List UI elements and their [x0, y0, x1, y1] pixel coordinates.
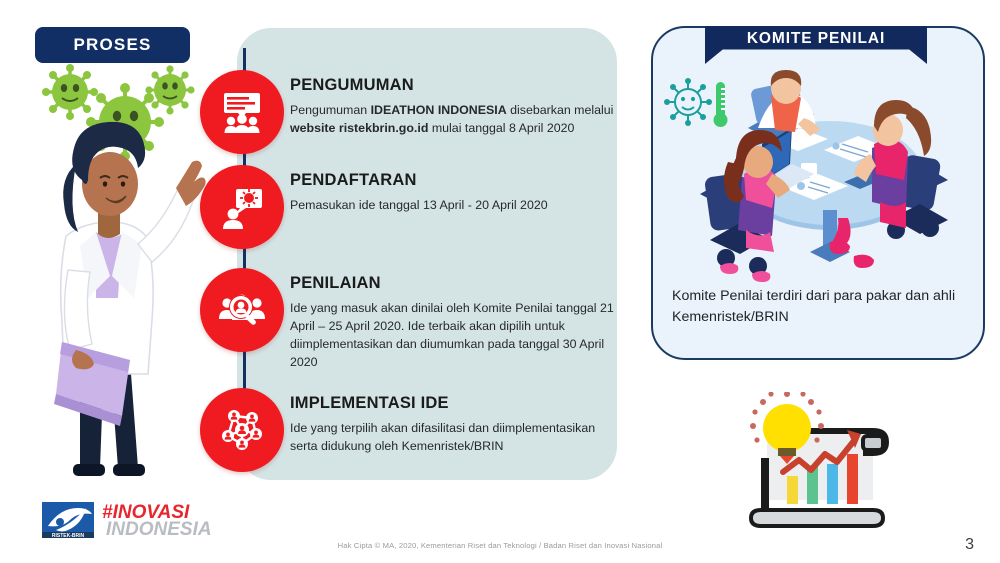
copyright-footer: Hak Cipta © MA, 2020, Kementerian Riset … [0, 541, 1000, 550]
process-step-body: IMPLEMENTASI IDE Ide yang terpilih akan … [290, 394, 615, 456]
step-title: IMPLEMENTASI IDE [290, 394, 615, 413]
komite-penilai-caption: Komite Penilai terdiri dari para pakar d… [672, 286, 972, 327]
proses-header-label: PROSES [73, 35, 151, 55]
komite-penilai-label: KOMITE PENILAI [747, 30, 885, 48]
person-idea-bubble-icon [200, 165, 284, 249]
step-title: PENILAIAN [290, 274, 615, 293]
lightbulb-bar-chart-icon [735, 392, 905, 537]
step-title: PENGUMUMAN [290, 76, 615, 95]
step-description: Pengumuman IDEATHON INDONESIA disebarkan… [290, 102, 615, 138]
step-description: Ide yang terpilih akan difasilitasi dan … [290, 420, 615, 456]
step-description: Pemasukan ide tanggal 13 April - 20 Apri… [290, 197, 615, 215]
proses-header-badge: PROSES [35, 27, 190, 63]
virus-thermometer-icon [664, 78, 728, 127]
network-nodes-icon [200, 388, 284, 472]
scientist-figure [54, 122, 206, 476]
svg-text:RISTEK-BRIN: RISTEK-BRIN [52, 533, 85, 539]
page-number: 3 [965, 536, 974, 554]
slide-canvas: PROSES [0, 0, 1000, 563]
ristek-brin-logo: RISTEK-BRIN [42, 502, 94, 539]
announcement-screen-icon [200, 70, 284, 154]
isometric-meeting-illustration [658, 70, 978, 288]
process-step-body: PENDAFTARAN Pemasukan ide tanggal 13 Apr… [290, 171, 615, 215]
magnifier-people-icon [200, 268, 284, 352]
scientist-with-virus-illustration [18, 60, 208, 480]
meeting-person-top [748, 70, 820, 140]
step-title: PENDAFTARAN [290, 171, 615, 190]
footer-logos: RISTEK-BRIN #INOVASI INDONESIA [40, 496, 230, 542]
virus-particle-3 [145, 65, 194, 114]
step-description: Ide yang masuk akan dinilai oleh Komite … [290, 300, 615, 372]
indonesia-wordmark: INDONESIA [106, 519, 212, 540]
virus-particle-1 [42, 64, 98, 120]
process-step-body: PENILAIAN Ide yang masuk akan dinilai ol… [290, 274, 615, 372]
process-step-body: PENGUMUMAN Pengumuman IDEATHON INDONESIA… [290, 76, 615, 138]
